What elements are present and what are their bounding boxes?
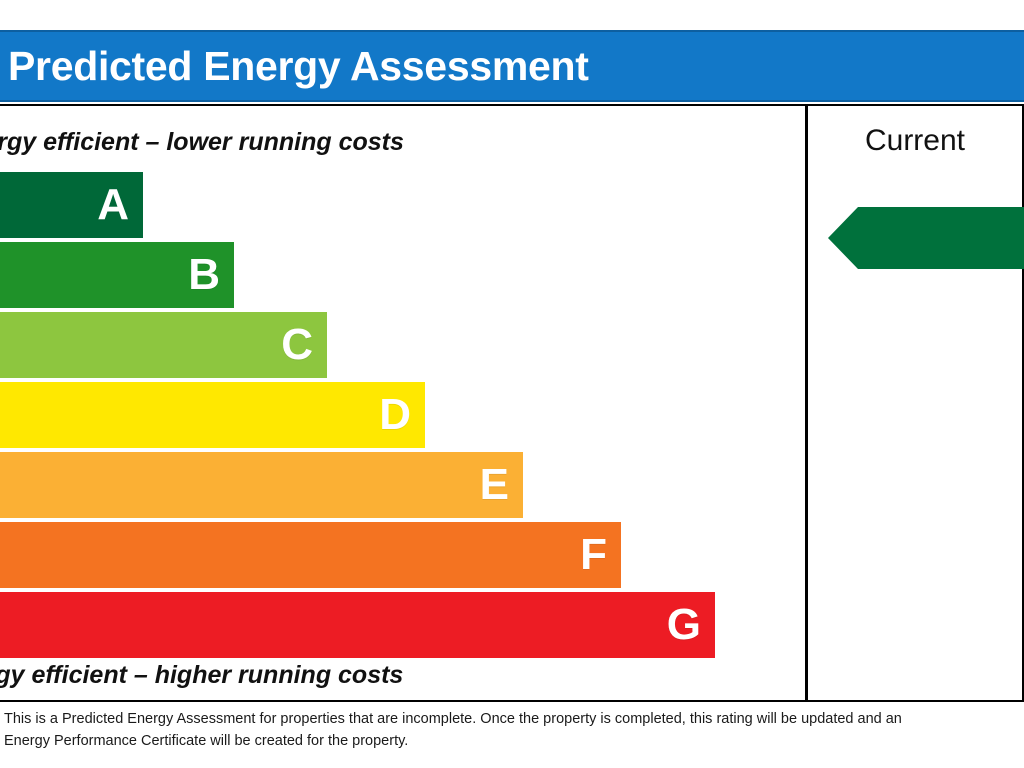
rating-band-label-d: D bbox=[379, 393, 425, 437]
rating-band-row-a: A bbox=[0, 172, 805, 240]
footnote-line-2: Energy Performance Certificate will be c… bbox=[4, 730, 1024, 752]
epc-chart: Predicted Energy Assessment Very energy … bbox=[0, 0, 1024, 768]
rating-band-label-a: A bbox=[97, 183, 143, 227]
caption-not-efficient: Not energy efficient – higher running co… bbox=[0, 661, 805, 690]
epc-body-frame: Very energy efficient – lower running co… bbox=[0, 104, 1024, 702]
rating-band-row-e: E bbox=[0, 452, 805, 520]
footnote-line-1: This is a Predicted Energy Assessment fo… bbox=[4, 708, 1024, 730]
rating-band-row-f: F bbox=[0, 522, 805, 590]
rating-band-bar-c: C bbox=[0, 312, 327, 378]
rating-band-label-g: G bbox=[667, 603, 715, 647]
epc-footnote: This is a Predicted Energy Assessment fo… bbox=[0, 708, 1024, 753]
rating-band-row-b: B bbox=[0, 242, 805, 310]
rating-band-row-c: C bbox=[0, 312, 805, 380]
epc-header: Predicted Energy Assessment bbox=[0, 30, 1024, 102]
current-rating-panel: Current 92 bbox=[808, 106, 1022, 700]
page-title: Predicted Energy Assessment bbox=[0, 46, 589, 87]
caption-very-efficient: Very energy efficient – lower running co… bbox=[0, 128, 805, 157]
current-rating-arrow: 92 bbox=[828, 207, 1024, 269]
rating-band-bar-e: E bbox=[0, 452, 523, 518]
rating-band-bar-g: G bbox=[0, 592, 715, 658]
rating-band-bars: A B C D bbox=[0, 172, 805, 652]
rating-band-row-d: D bbox=[0, 382, 805, 450]
rating-band-bar-f: F bbox=[0, 522, 621, 588]
rating-band-label-e: E bbox=[480, 463, 523, 507]
rating-band-label-c: C bbox=[281, 323, 327, 367]
rating-band-label-b: B bbox=[188, 253, 234, 297]
rating-band-bar-b: B bbox=[0, 242, 234, 308]
current-rating-heading: Current bbox=[808, 124, 1022, 158]
rating-band-label-f: F bbox=[580, 533, 621, 577]
rating-band-bar-d: D bbox=[0, 382, 425, 448]
rating-band-bar-a: A bbox=[0, 172, 143, 238]
rating-band-row-g: G bbox=[0, 592, 805, 660]
rating-scale-panel: Very energy efficient – lower running co… bbox=[0, 106, 805, 700]
